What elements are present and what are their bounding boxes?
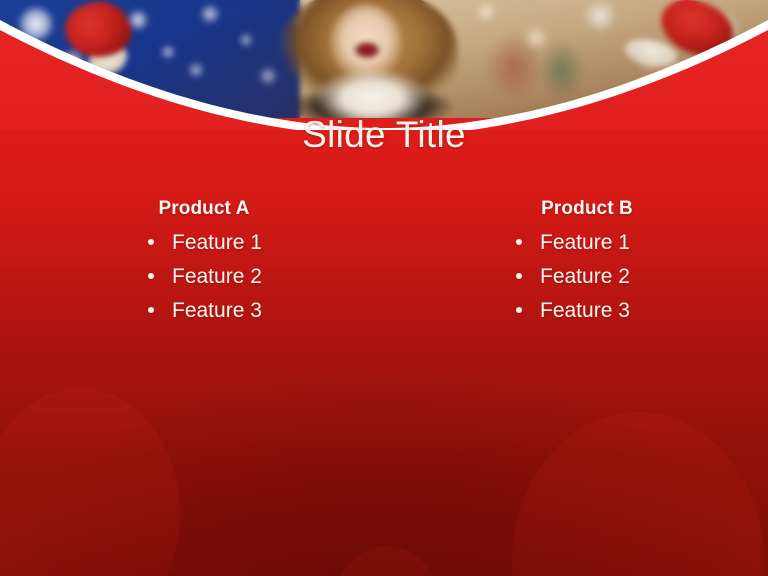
bullet-dot-icon [516,239,522,245]
bullet-list-a: Feature 1 Feature 2 Feature 3 [24,232,384,321]
bullet-label: Feature 3 [540,300,630,321]
bullet-label: Feature 2 [540,266,630,287]
bullet-dot-icon [516,307,522,313]
bullet-dot-icon [148,273,154,279]
bullet-label: Feature 1 [540,232,630,253]
bullet-dot-icon [148,239,154,245]
list-item: Feature 3 [406,300,768,321]
column-heading-a: Product A [24,198,384,220]
list-item: Feature 3 [24,300,384,321]
column-product-b: Product B Feature 1 Feature 2 Feature 3 [384,198,768,334]
bullet-label: Feature 1 [172,232,262,253]
column-product-a: Product A Feature 1 Feature 2 Feature 3 [0,198,384,334]
list-item: Feature 1 [24,232,384,253]
page-title: Slide Title [0,115,768,156]
bullet-label: Feature 2 [172,266,262,287]
bullet-list-b: Feature 1 Feature 2 Feature 3 [406,232,768,321]
list-item: Feature 2 [24,266,384,287]
list-item: Feature 1 [406,232,768,253]
bullet-dot-icon [516,273,522,279]
content-columns: Product A Feature 1 Feature 2 Feature 3 … [0,198,768,334]
presentation-slide: Slide Title Product A Feature 1 Feature … [0,0,768,576]
list-item: Feature 2 [406,266,768,287]
bullet-dot-icon [148,307,154,313]
bullet-label: Feature 3 [172,300,262,321]
curved-banner-divider [0,0,768,130]
column-heading-b: Product B [406,198,768,220]
